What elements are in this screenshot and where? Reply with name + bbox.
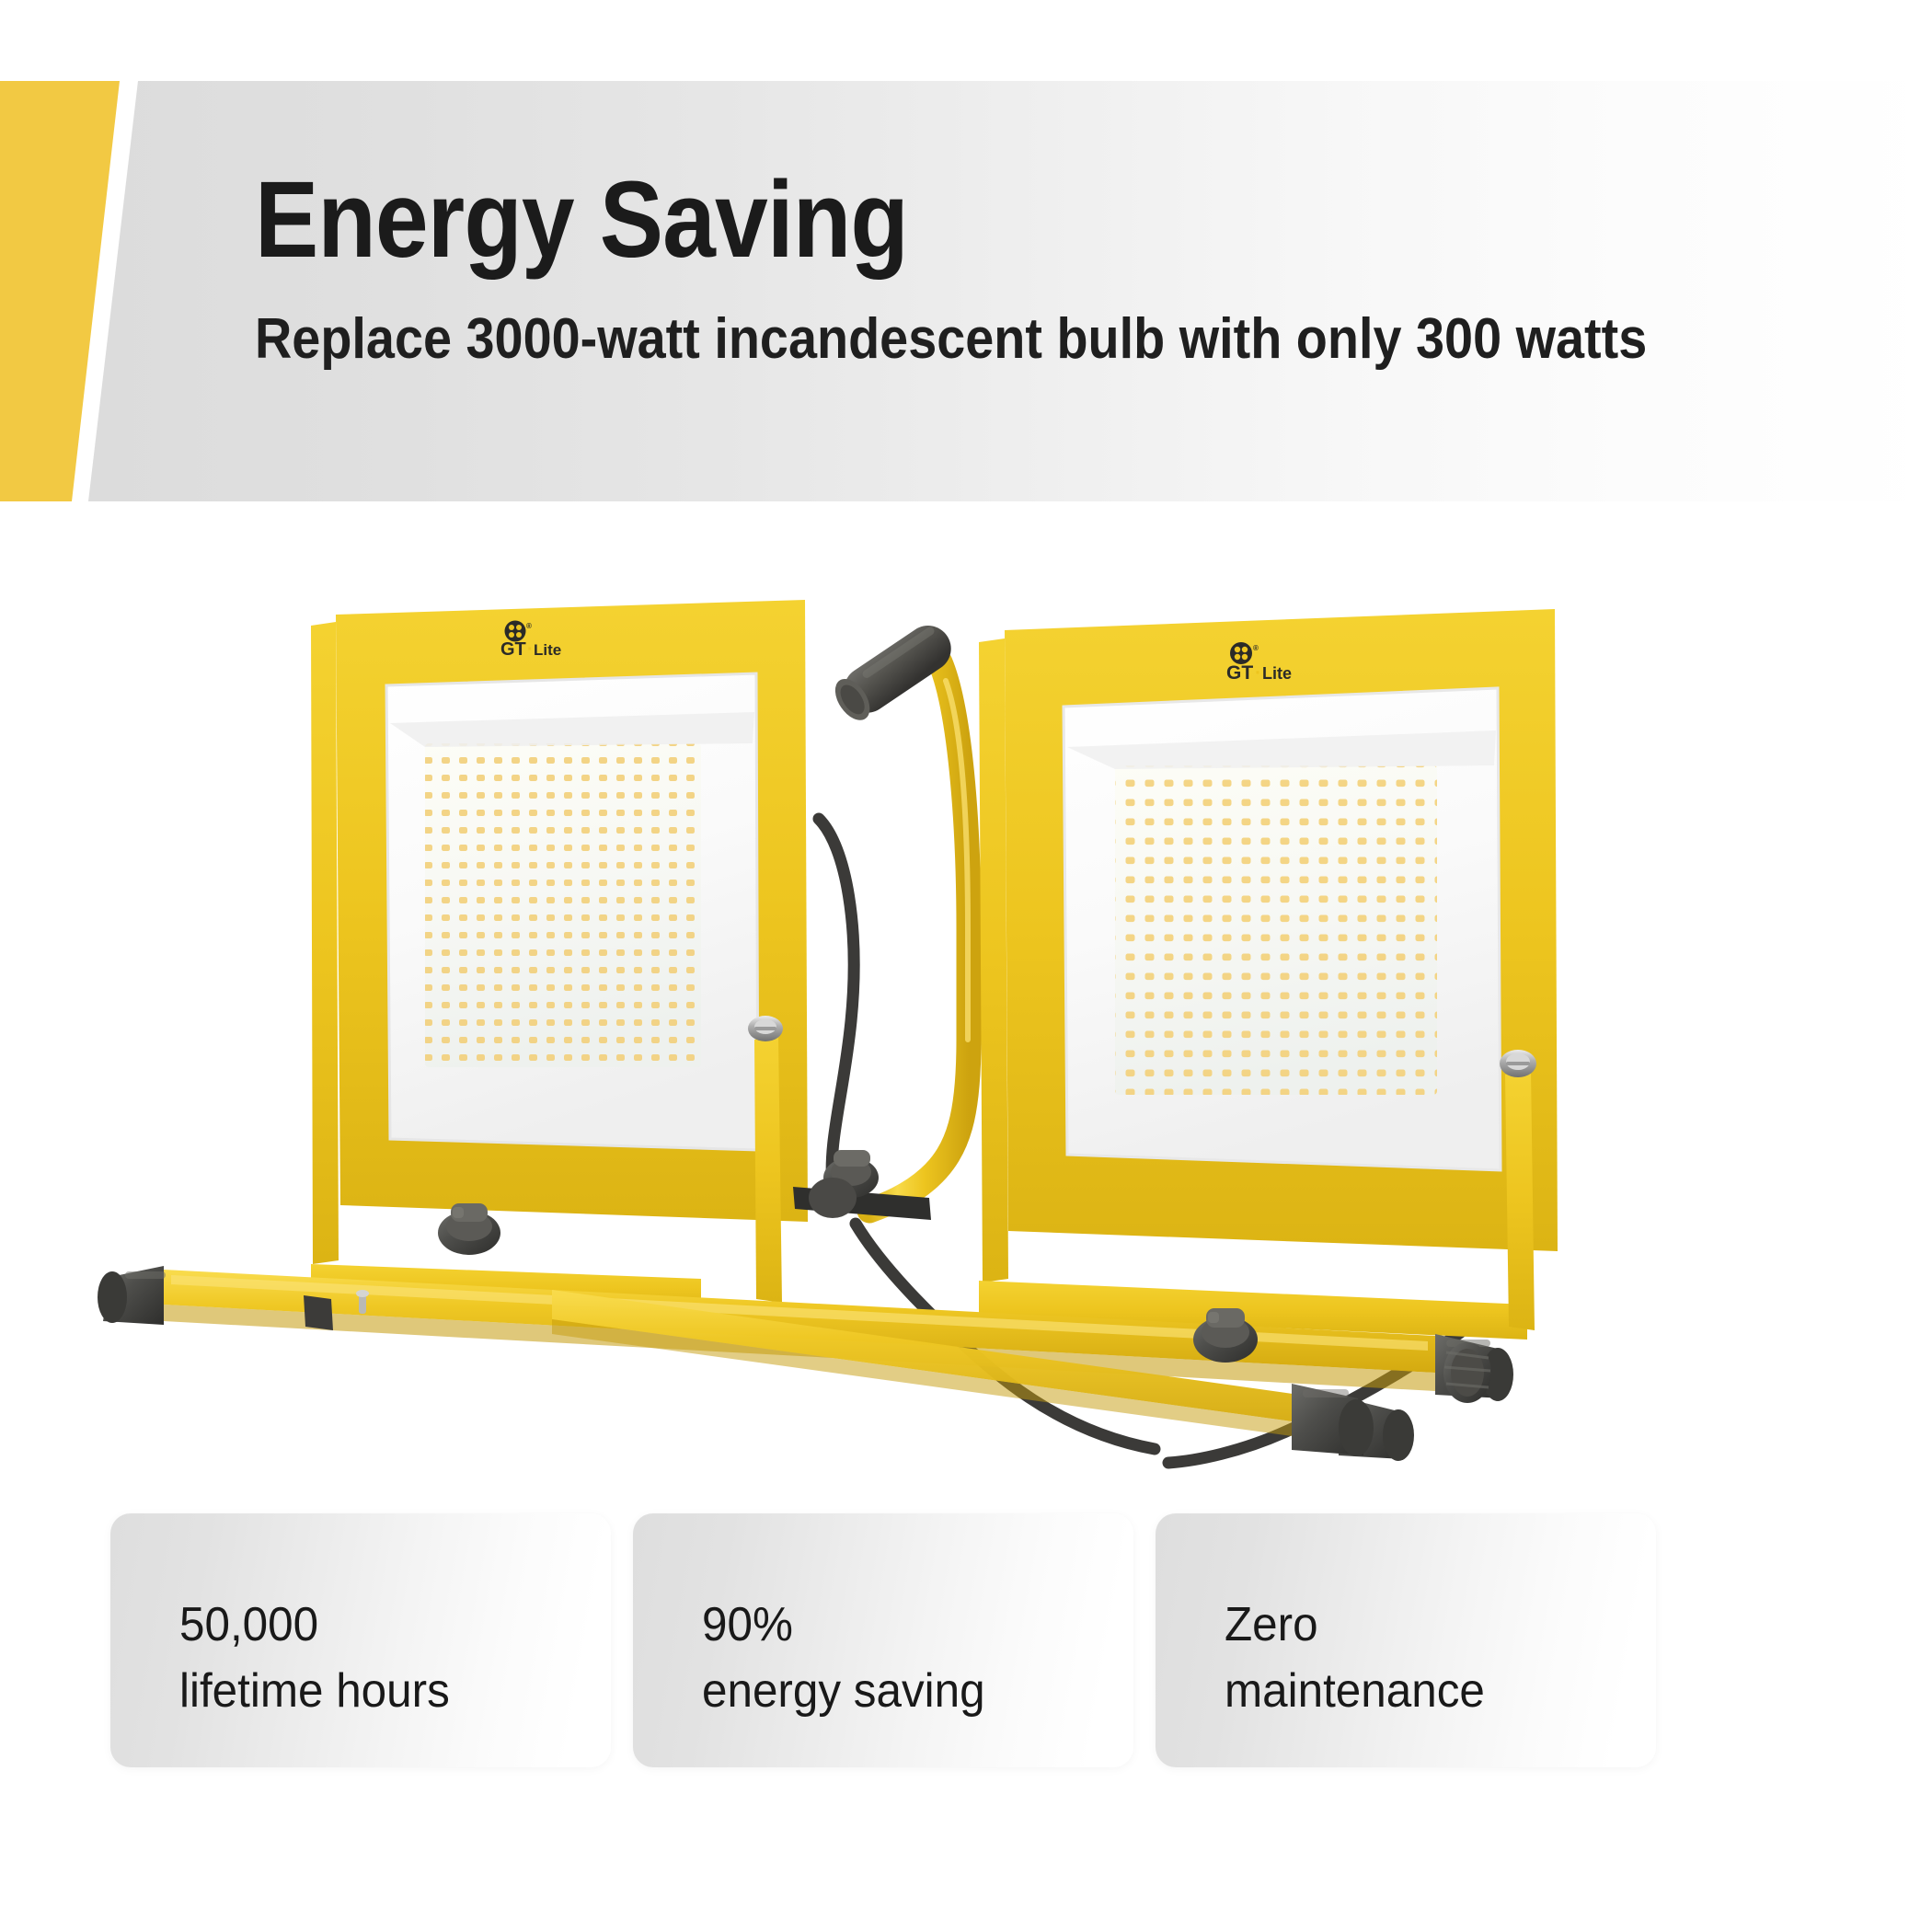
feature-card-maintenance[interactable]: Zero maintenance bbox=[1156, 1513, 1656, 1767]
svg-text:Lite: Lite bbox=[534, 641, 561, 659]
svg-text:®: ® bbox=[526, 622, 532, 630]
brand-text-left: GT bbox=[500, 639, 526, 660]
feature-label: lifetime hours bbox=[179, 1659, 450, 1725]
base-endcap-left bbox=[98, 1266, 166, 1325]
feature-value: 50,000 bbox=[179, 1593, 450, 1659]
feature-card-text: Zero maintenance bbox=[1225, 1593, 1485, 1725]
feature-label: maintenance bbox=[1225, 1659, 1485, 1725]
feature-value: Zero bbox=[1225, 1593, 1485, 1659]
feature-value: 90% bbox=[702, 1593, 985, 1659]
feature-card-row: 50,000 lifetime hours 90% energy saving … bbox=[110, 1513, 1748, 1771]
feature-label: energy saving bbox=[702, 1659, 985, 1725]
page-subtitle: Replace 3000-watt incandescent bulb with… bbox=[255, 311, 1580, 368]
cord-strain-relief bbox=[1443, 1342, 1491, 1403]
work-light-illustration: ® GT · Lite bbox=[0, 543, 1932, 1472]
feature-card-text: 90% energy saving bbox=[702, 1593, 985, 1725]
right-bracket-arm-inner bbox=[1505, 1071, 1535, 1330]
right-bracket-arm-outer bbox=[979, 638, 1008, 1282]
svg-text:·: · bbox=[527, 639, 534, 660]
header-text-block: Energy Saving Replace 3000-watt incandes… bbox=[255, 166, 1727, 368]
svg-text:®: ® bbox=[1253, 644, 1259, 652]
right-pivot-screw bbox=[1500, 1050, 1536, 1077]
product-image: ® GT · Lite bbox=[0, 543, 1932, 1472]
header-banner: Energy Saving Replace 3000-watt incandes… bbox=[0, 0, 1932, 515]
svg-text:·: · bbox=[1255, 662, 1261, 684]
feature-card-energy-saving[interactable]: 90% energy saving bbox=[633, 1513, 1133, 1767]
feature-card-lifetime-hours[interactable]: 50,000 lifetime hours bbox=[110, 1513, 611, 1767]
handle-tube bbox=[869, 662, 969, 1211]
right-light-head: ® GT · Lite bbox=[979, 609, 1558, 1340]
left-bracket-arm-outer bbox=[311, 622, 339, 1264]
left-bracket-arm-inner bbox=[754, 1036, 782, 1303]
left-pivot-screw bbox=[748, 1016, 783, 1041]
rail-clip-left bbox=[304, 1295, 333, 1330]
marketing-infographic: Energy Saving Replace 3000-watt incandes… bbox=[0, 0, 1932, 1932]
page-title: Energy Saving bbox=[255, 166, 1550, 274]
left-light-head: ® GT · Lite bbox=[311, 594, 808, 1314]
feature-card-text: 50,000 lifetime hours bbox=[179, 1593, 450, 1725]
brand-text-right: GT bbox=[1226, 662, 1253, 684]
svg-text:Lite: Lite bbox=[1262, 664, 1292, 683]
knob-left-head bbox=[438, 1203, 500, 1255]
